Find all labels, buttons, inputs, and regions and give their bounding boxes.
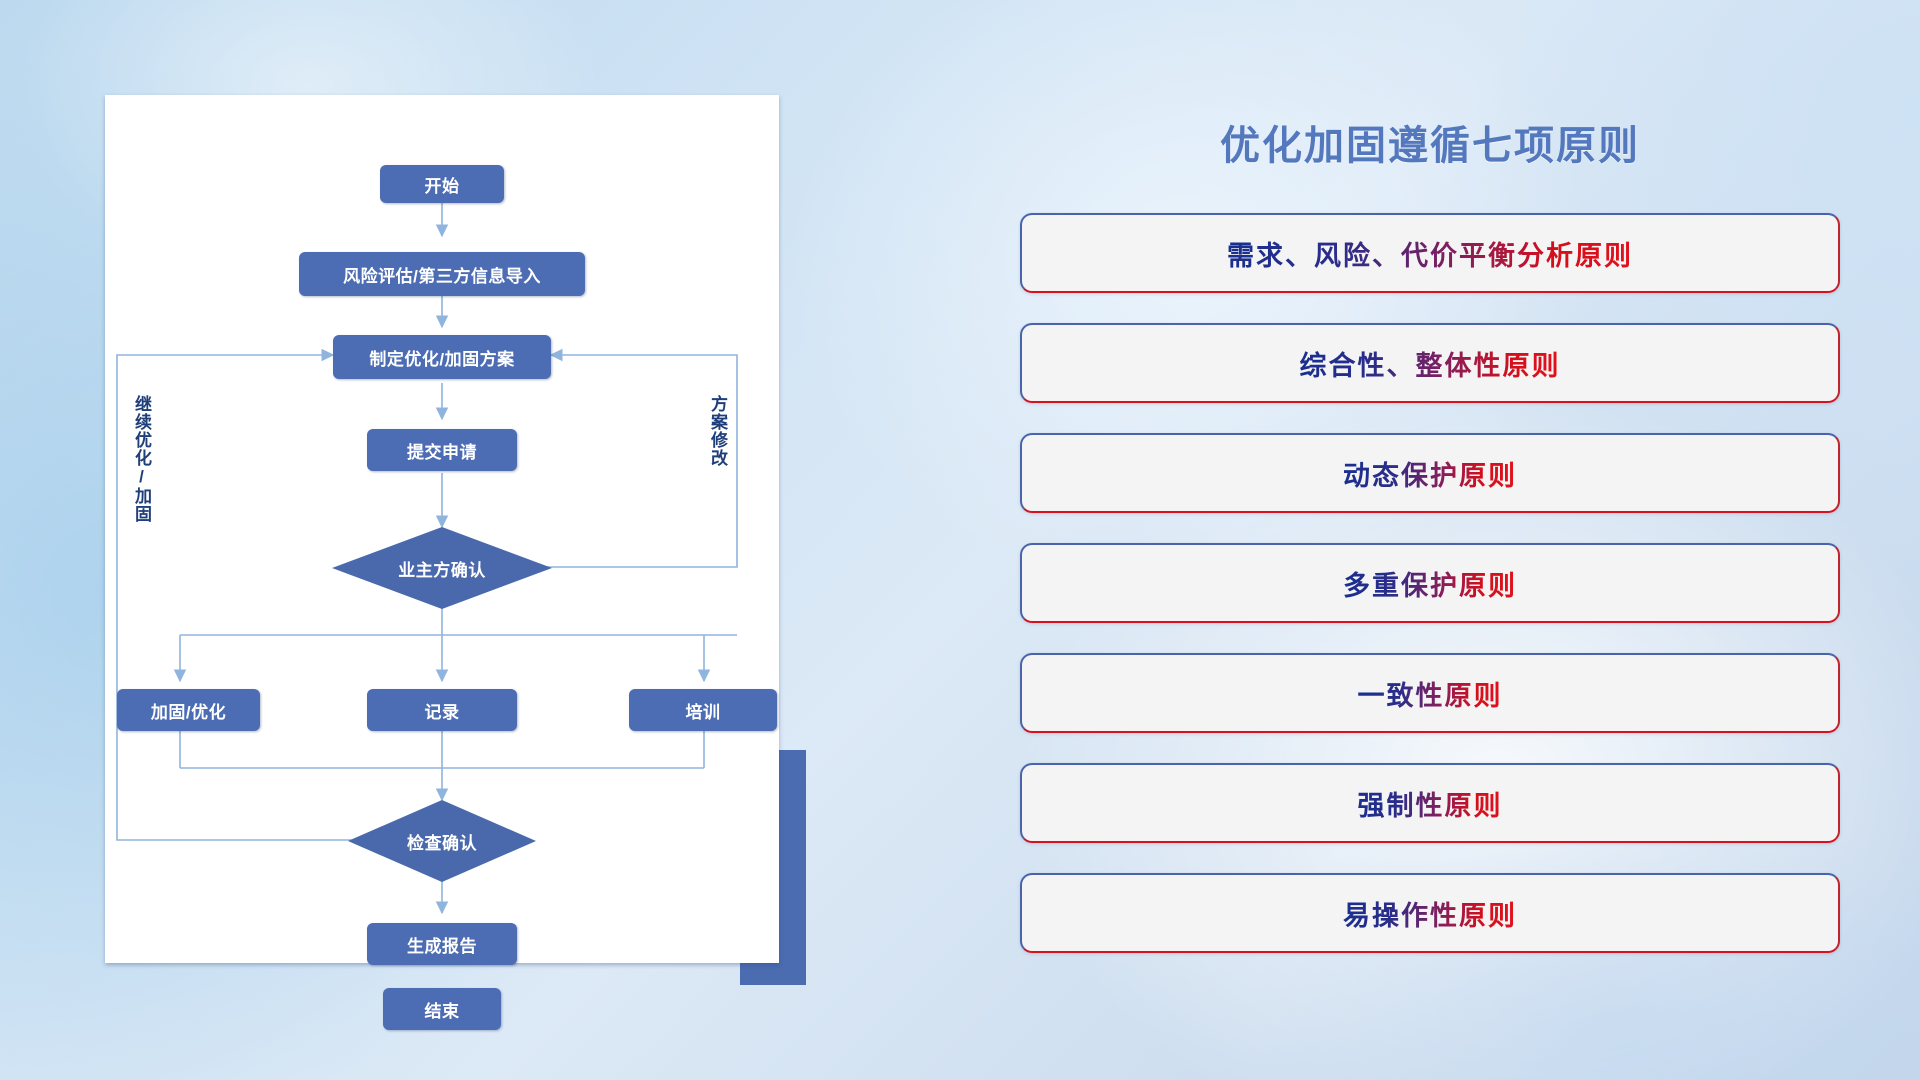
principle-label: 动态保护原则 [1343, 454, 1517, 493]
principle-label: 综合性、整体性原则 [1300, 344, 1561, 383]
principle-item[interactable]: 动态保护原则 [1020, 433, 1840, 513]
principle-item[interactable]: 多重保护原则 [1020, 543, 1840, 623]
principles-panel: 优化加固遵循七项原则 需求、风险、代价平衡分析原则 综合性、整体性原则 动态保护… [1020, 95, 1840, 1005]
flow-node-reinforce[interactable]: 加固/优化 [117, 689, 260, 731]
principle-item[interactable]: 强制性原则 [1020, 763, 1840, 843]
flow-node-end[interactable]: 结束 [383, 988, 501, 1030]
panel-title: 优化加固遵循七项原则 [1020, 113, 1840, 171]
principle-item[interactable]: 需求、风险、代价平衡分析原则 [1020, 213, 1840, 293]
flowchart-diagram: 开始 风险评估/第三方信息导入 制定优化/加固方案 提交申请 业主方确认 加固/… [105, 95, 779, 963]
principle-label: 一致性原则 [1358, 674, 1503, 713]
principle-item[interactable]: 一致性原则 [1020, 653, 1840, 733]
principle-list: 需求、风险、代价平衡分析原则 综合性、整体性原则 动态保护原则 多重保护原则 一… [1020, 213, 1840, 983]
principle-item[interactable]: 易操作性原则 [1020, 873, 1840, 953]
flowchart-panel: 开始 风险评估/第三方信息导入 制定优化/加固方案 提交申请 业主方确认 加固/… [105, 95, 810, 990]
principle-label: 需求、风险、代价平衡分析原则 [1227, 234, 1633, 273]
principle-label: 易操作性原则 [1343, 894, 1517, 933]
flow-node-record[interactable]: 记录 [367, 689, 517, 731]
flow-edge-label-plan-revision: 方案修改 [709, 395, 726, 467]
principle-label: 多重保护原则 [1343, 564, 1517, 603]
flow-node-plan[interactable]: 制定优化/加固方案 [333, 335, 551, 379]
flow-edge-label-continue-optimize: 继续优化/加固 [133, 395, 150, 523]
flow-node-submit-application[interactable]: 提交申请 [367, 429, 517, 471]
flow-node-start[interactable]: 开始 [380, 165, 504, 203]
flow-node-risk-assessment[interactable]: 风险评估/第三方信息导入 [299, 252, 585, 296]
flowchart-card: 开始 风险评估/第三方信息导入 制定优化/加固方案 提交申请 业主方确认 加固/… [105, 95, 779, 963]
flow-node-generate-report[interactable]: 生成报告 [367, 923, 517, 965]
principle-label: 强制性原则 [1358, 784, 1503, 823]
flow-node-training[interactable]: 培训 [629, 689, 777, 731]
principle-item[interactable]: 综合性、整体性原则 [1020, 323, 1840, 403]
